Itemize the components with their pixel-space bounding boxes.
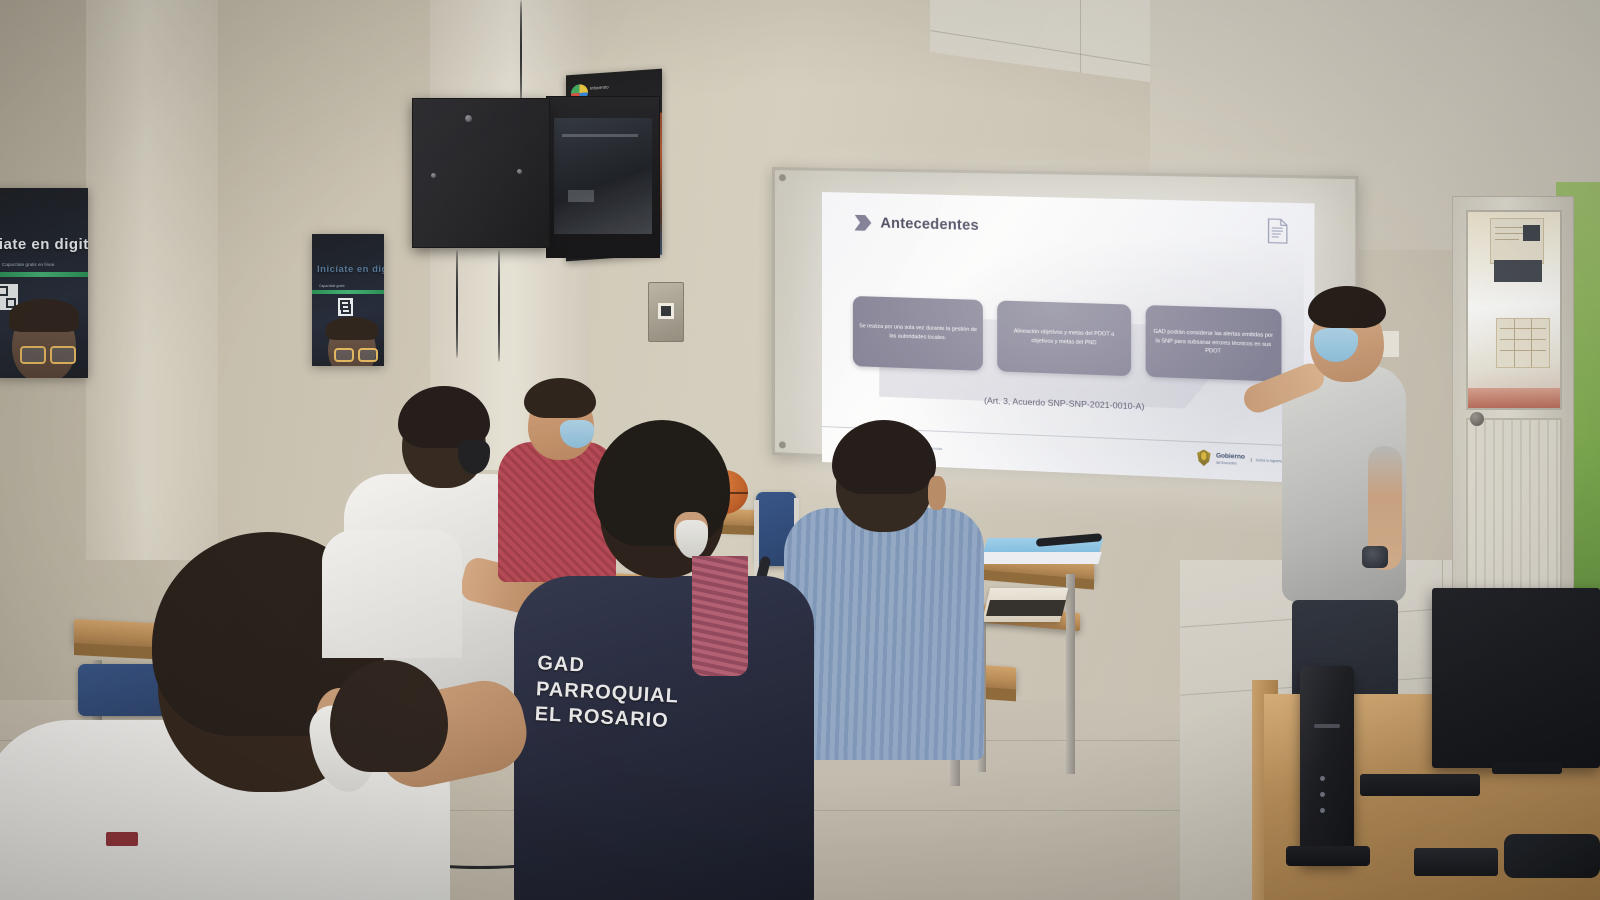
wall-cable-left bbox=[456, 250, 458, 358]
ecuador-coat-of-arms-icon bbox=[1197, 449, 1211, 466]
document-icon bbox=[1267, 218, 1289, 244]
attendee-partial-white bbox=[322, 530, 462, 670]
wall-mounted-network-cabinet bbox=[412, 98, 658, 250]
poster-1-subtitle: Capacítate gratis en línea bbox=[2, 262, 54, 267]
chevron-marker-icon bbox=[854, 214, 871, 230]
wall-switch-plate[interactable] bbox=[648, 282, 684, 342]
poster-2-title: Inicíate en digital bbox=[317, 264, 384, 275]
tower-base bbox=[1286, 846, 1370, 866]
classroom-photo-scene: ciate en digital Capacítate gratis en lí… bbox=[0, 0, 1600, 900]
ceiling-cable bbox=[520, 0, 522, 104]
gov-brand: Gobierno del Encuentro bbox=[1216, 452, 1245, 465]
slide-box: Se realiza por una sola vez durante la g… bbox=[853, 296, 983, 371]
cable-bundle bbox=[1504, 834, 1600, 878]
qr-code-icon bbox=[338, 298, 353, 316]
attendee-partial-head bbox=[330, 660, 450, 790]
poster-1-title: ciate en digital bbox=[0, 236, 88, 253]
door-knob[interactable] bbox=[1470, 412, 1484, 426]
equipment-tower bbox=[1300, 666, 1354, 864]
wall-cable-right bbox=[498, 250, 500, 362]
slide-title-row: Antecedentes bbox=[854, 214, 978, 233]
shirt-brand-tag bbox=[106, 832, 138, 846]
device-on-desk bbox=[1414, 848, 1498, 876]
attendee-gad-vest: GAD PARROQUIAL EL ROSARIO bbox=[506, 428, 826, 898]
slide-title: Antecedentes bbox=[880, 215, 978, 234]
posted-schedule bbox=[1496, 318, 1550, 368]
slide-box: Alineación objetivos y metas del PDOT a … bbox=[998, 300, 1131, 376]
attendee-vest-body bbox=[514, 576, 814, 900]
poster-2-subtitle: Capacítate gratis bbox=[319, 284, 345, 288]
computer-monitor bbox=[1432, 588, 1600, 768]
keyboard-or-device bbox=[1360, 774, 1480, 796]
posted-notice bbox=[1490, 218, 1544, 264]
poster-inicate-en-digital-small: Inicíate en digital Capacítate gratis bbox=[312, 234, 384, 366]
attendee-mask bbox=[458, 440, 490, 474]
monitor-stand bbox=[1492, 762, 1562, 774]
vest-patterned-trim bbox=[692, 556, 748, 676]
banner-small-label: Infocentro bbox=[590, 84, 609, 90]
poster-inicate-en-digital-large: ciate en digital Capacítate gratis en lí… bbox=[0, 188, 88, 378]
wall-pillar-left bbox=[86, 0, 218, 560]
wristwatch bbox=[1362, 546, 1388, 568]
door-glass-panel bbox=[1466, 210, 1562, 410]
